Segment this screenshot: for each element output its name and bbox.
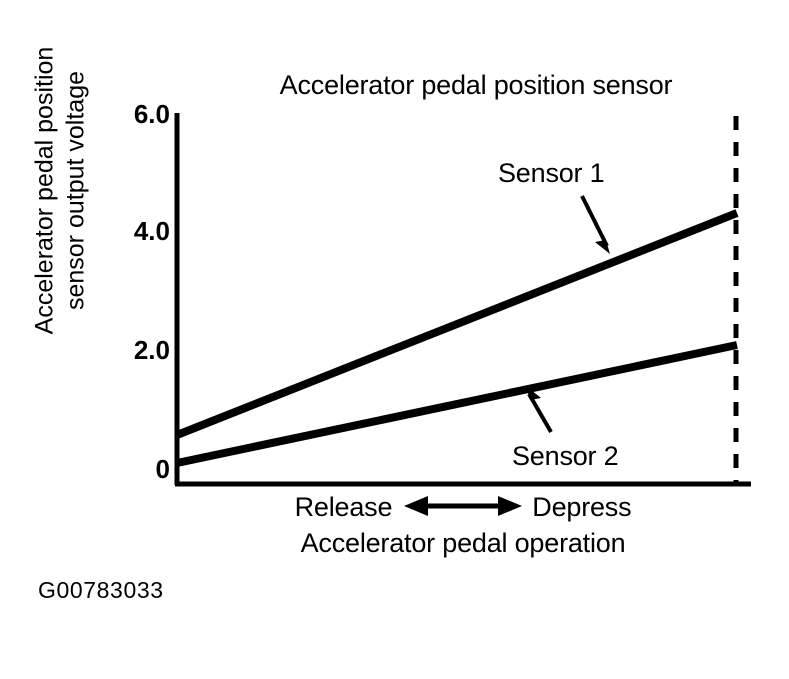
y-axis-label-line-2: sensor output voltage bbox=[60, 0, 91, 401]
series-label-sensor-1: Sensor 1 bbox=[498, 158, 604, 189]
y-tick-label-2: 2.0 bbox=[100, 337, 170, 363]
figure-container: Accelerator pedal position sensor Accele… bbox=[0, 0, 789, 679]
x-axis-label: Accelerator pedal operation bbox=[176, 528, 750, 559]
figure-id-caption: G00783033 bbox=[38, 577, 164, 604]
sensor-2-callout-arrow bbox=[526, 386, 551, 432]
y-axis-label-line-1: Accelerator pedal position bbox=[31, 47, 59, 335]
sensor-1-callout-arrow bbox=[582, 196, 610, 254]
y-tick-label-6: 6.0 bbox=[100, 101, 170, 127]
x-axis-word-depress: Depress bbox=[532, 492, 631, 523]
chart-title: Accelerator pedal position sensor bbox=[176, 70, 776, 101]
x-axis-direction-row: Release Depress bbox=[176, 489, 750, 525]
y-axis-label: Accelerator pedal position sensor output… bbox=[30, 0, 91, 401]
y-tick-label-0: 0 bbox=[100, 456, 170, 482]
y-tick-label-4: 4.0 bbox=[100, 218, 170, 244]
series-label-sensor-2: Sensor 2 bbox=[512, 441, 618, 472]
x-axis-arrow-icon bbox=[402, 494, 522, 520]
x-axis-word-release: Release bbox=[295, 492, 393, 523]
